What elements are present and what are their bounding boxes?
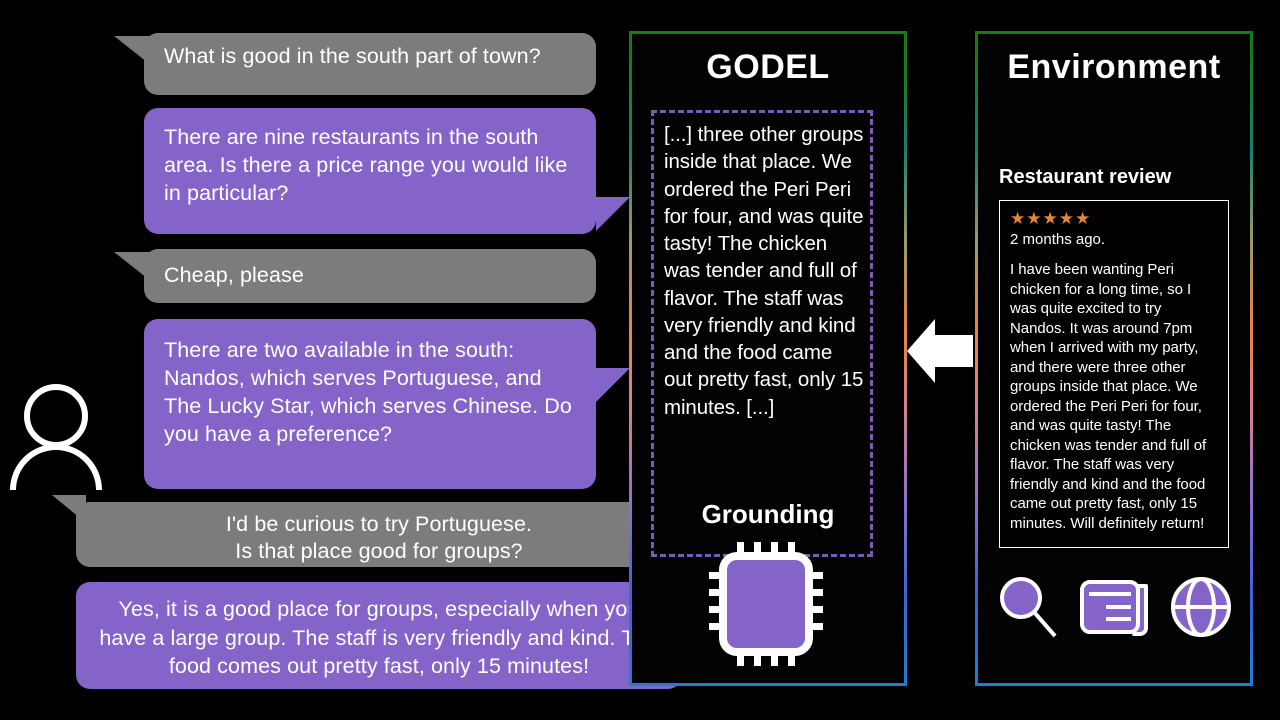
chat-message-user-2[interactable]: Cheap, please [144,249,596,303]
review-date: 2 months ago. [1010,231,1218,248]
chat-message-user-1[interactable]: What is good in the south part of town? [144,33,596,95]
environment-title: Environment [978,34,1250,87]
chat-message-agent-3[interactable]: Yes, it is a good place for groups, espe… [76,582,682,689]
godel-panel: GODEL [...] three other groups inside th… [629,31,907,686]
chat-message-text: There are nine restaurants in the south … [164,125,567,205]
chat-message-user-3[interactable]: I'd be curious to try Portuguese. Is tha… [76,502,682,567]
bubble-tail-agent [596,197,630,231]
review-body: I have been wanting Peri chicken for a l… [1010,260,1218,533]
search-magnifier-icon[interactable] [996,574,1058,640]
grounding-box: [...] three other groups inside that pla… [651,110,873,557]
grounding-text: [...] three other groups inside that pla… [654,113,870,421]
chat-message-agent-1[interactable]: There are nine restaurants in the south … [144,108,596,234]
cpu-chip-icon [709,542,827,666]
user-person-icon [8,378,104,490]
godel-title: GODEL [632,34,904,87]
chat-message-agent-2[interactable]: There are two available in the south: Na… [144,319,596,489]
globe-web-icon[interactable] [1170,576,1232,638]
chat-message-text: There are two available in the south: Na… [164,338,572,446]
news-article-icon[interactable] [1078,578,1150,636]
godel-panel-inner: GODEL [...] three other groups inside th… [632,34,904,683]
environment-source-icons [996,574,1232,640]
environment-panel: Environment Restaurant review ★★★★★ 2 mo… [975,31,1253,686]
star-rating: ★★★★★ [1010,210,1218,227]
chat-message-text: Yes, it is a good place for groups, espe… [99,597,658,678]
bubble-tail-agent [596,368,630,402]
chat-message-text: Cheap, please [164,263,304,287]
restaurant-review-heading: Restaurant review [999,166,1171,189]
environment-panel-inner: Environment Restaurant review ★★★★★ 2 mo… [978,34,1250,683]
chat-message-text: I'd be curious to try Portuguese. Is tha… [226,512,532,563]
chat-message-text: What is good in the south part of town? [164,44,541,68]
grounding-label: Grounding [632,499,904,530]
slide-canvas: What is good in the south part of town? … [0,0,1280,720]
review-card[interactable]: ★★★★★ 2 months ago. I have been wanting … [999,200,1229,548]
arrow-left-icon [907,315,973,387]
